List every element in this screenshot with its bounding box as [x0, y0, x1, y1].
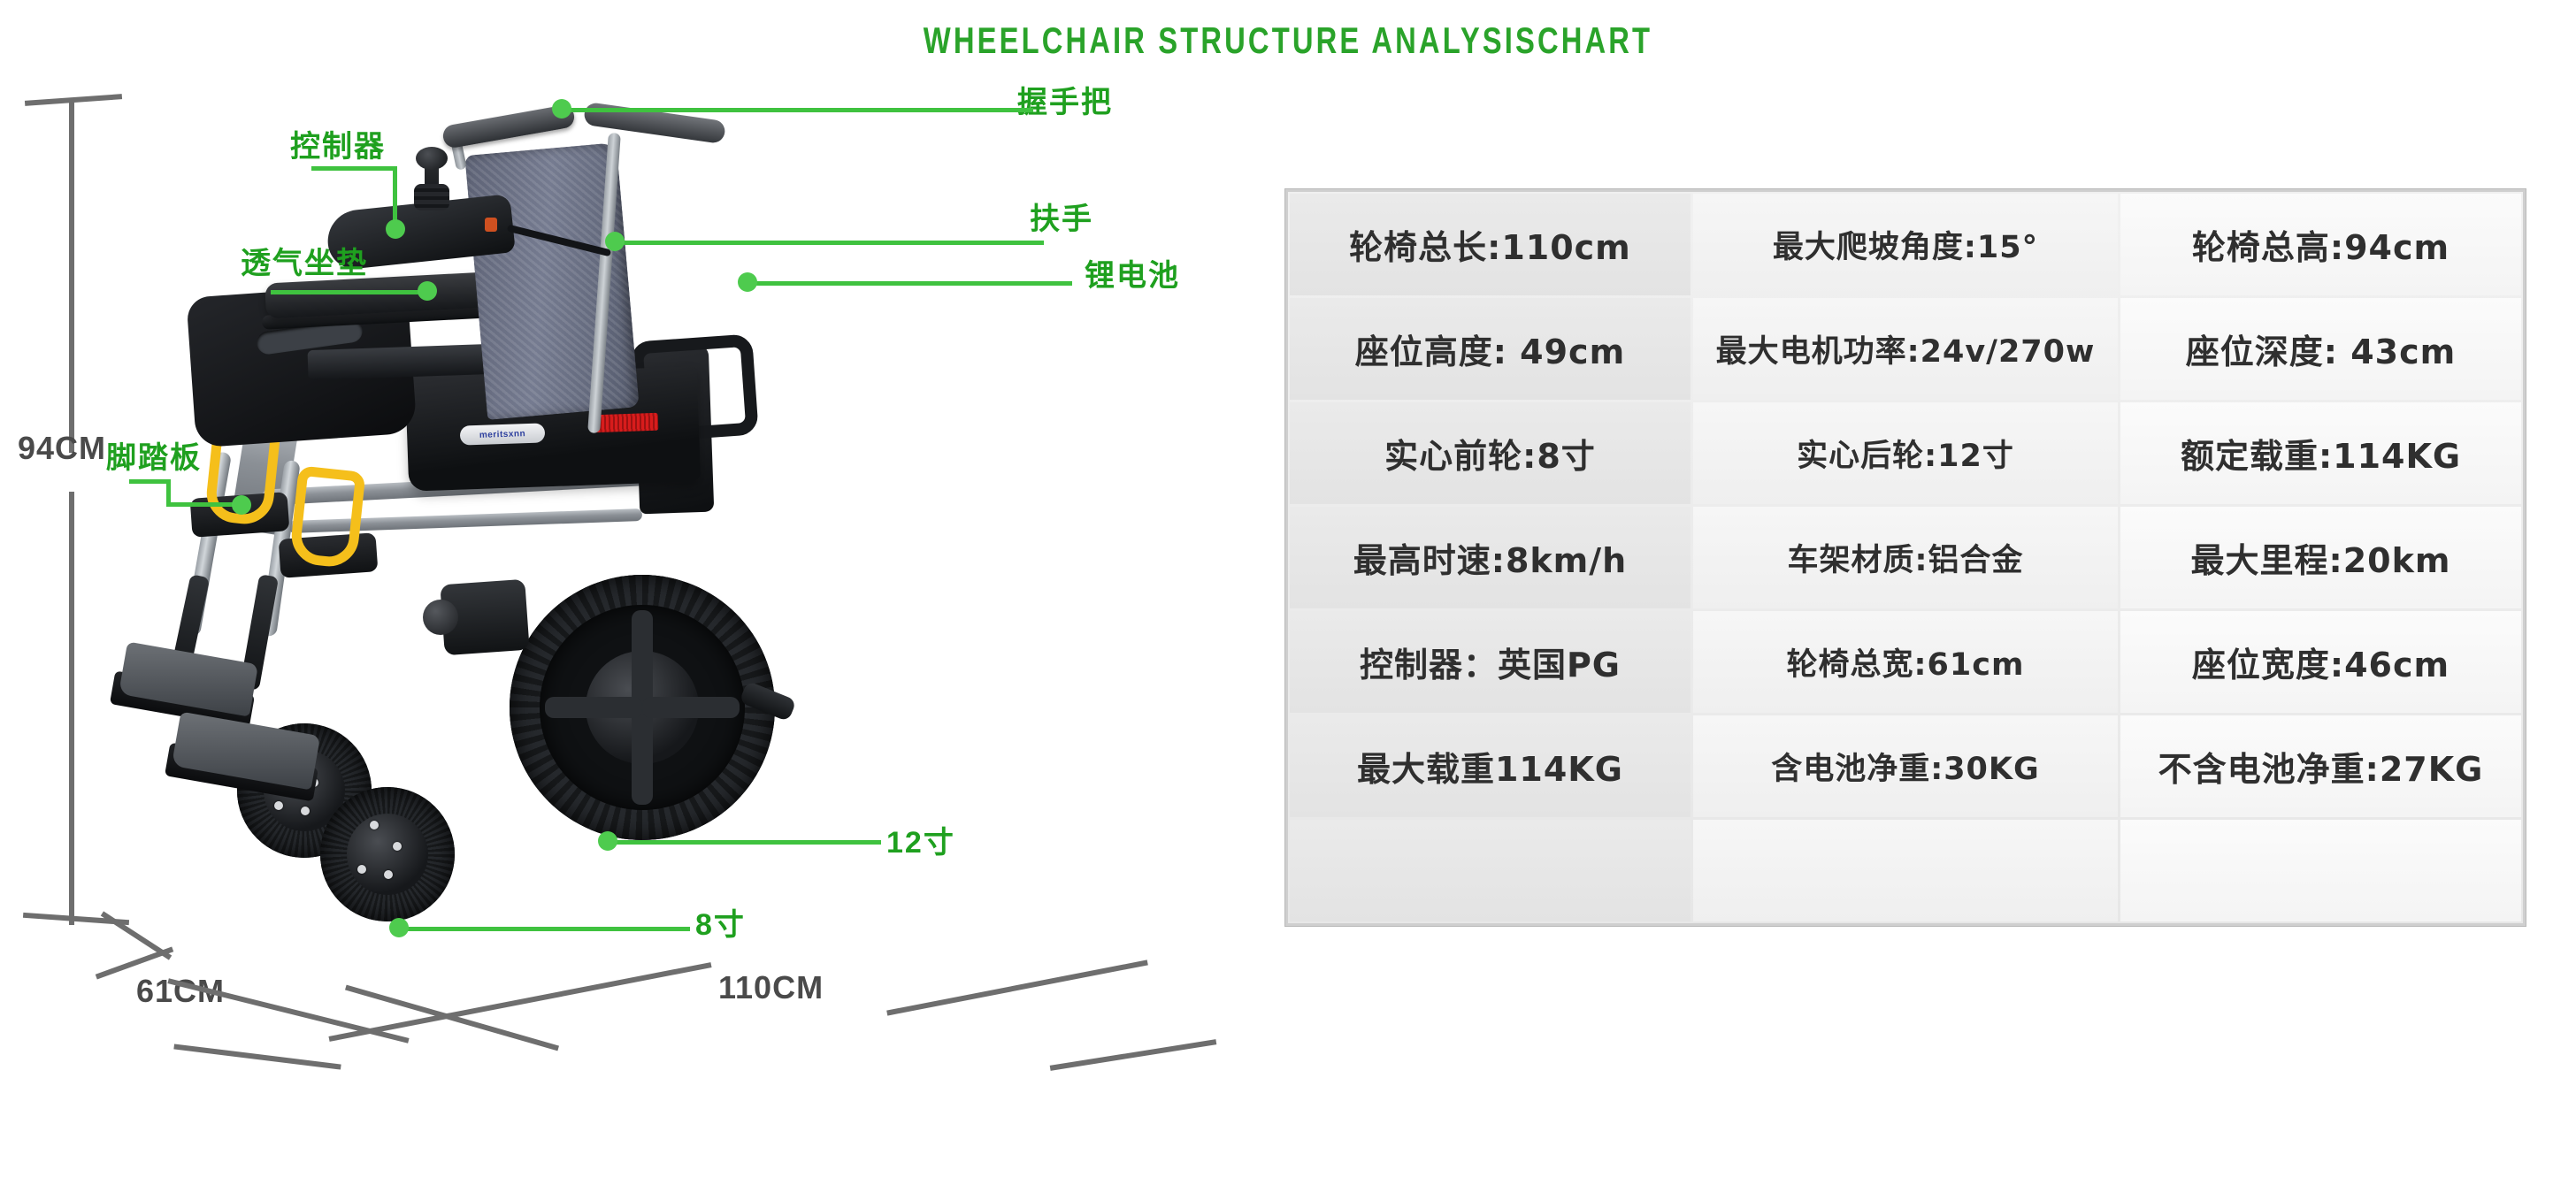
spec-cell-r6-c2: [2120, 820, 2521, 921]
joystick-knob: [416, 147, 448, 170]
spec-cell-r1-c2: 座位深度: 43cm: [2120, 298, 2521, 400]
callout-dot-footrest: [232, 495, 251, 515]
wheelchair-illustration: meritsxnn: [106, 80, 1150, 1052]
spec-cell-r5-c2: 不含电池净重:27KG: [2120, 715, 2521, 817]
spec-cell-r3-c1: 车架材质:铝合金: [1693, 507, 2118, 608]
callout-dot-breathable-cushion: [418, 281, 437, 301]
spec-cell-r1-c0: 座位高度: 49cm: [1290, 298, 1690, 400]
callout-dot-rear-wheel-size: [598, 831, 617, 851]
spec-cell-r3-c2: 最大里程:20km: [2120, 507, 2521, 608]
spec-cell-r5-c1: 含电池净重:30KG: [1693, 715, 2118, 817]
callout-label-footrest: 脚踏板: [106, 433, 202, 477]
spec-cell-r2-c1: 实心后轮:12寸: [1693, 402, 2118, 504]
spec-cell-r3-c0: 最高时速:8km/h: [1290, 507, 1690, 608]
callout-leader-rear-wheel-size: [605, 840, 881, 845]
controller-indicator: [485, 218, 497, 232]
spec-cell-r2-c2: 额定载重:114KG: [2120, 402, 2521, 504]
spec-cell-r6-c1: [1693, 820, 2118, 921]
callout-label-front-wheel-size: 8寸: [695, 900, 746, 944]
page-title: WHEELCHAIR STRUCTURE ANALYSISCHART: [283, 19, 2292, 62]
callout-leader-armrest: [610, 241, 1044, 245]
callout-leader-front-wheel-size: [396, 927, 690, 931]
callout-leader-footrest-h: [129, 479, 170, 484]
callout-label-armrest: 扶手: [1030, 195, 1093, 238]
dimension-height-label: 94CM: [18, 430, 106, 467]
spec-cell-r4-c2: 座位宽度:46cm: [2120, 611, 2521, 713]
front-caster-wheel-2: [320, 787, 455, 921]
callout-dot-armrest: [605, 232, 625, 251]
reflector: [593, 413, 659, 433]
joystick-boot: [414, 184, 449, 210]
callout-dot-handle-grip: [552, 99, 571, 119]
callout-leader-footrest-h2: [166, 502, 239, 507]
callout-label-breathable-cushion: 透气坐垫: [241, 239, 368, 282]
callout-leader-controller-h: [311, 166, 396, 171]
callout-label-rear-wheel-size: 12寸: [886, 818, 955, 861]
wheelchair-diagram: 94CM 61CM 110CM: [0, 80, 1274, 1185]
spec-cell-r6-c0: [1290, 820, 1690, 921]
specification-grid: 轮椅总长:110cm最大爬坡角度:15°轮椅总高:94cm座位高度: 49cm最…: [1290, 194, 2521, 921]
motor-shaft: [423, 600, 458, 635]
spec-cell-r5-c0: 最大载重114KG: [1290, 715, 1690, 817]
brand-badge: meritsxnn: [460, 423, 546, 445]
spec-cell-r2-c0: 实心前轮:8寸: [1290, 402, 1690, 504]
spec-cell-r0-c2: 轮椅总高:94cm: [2120, 194, 2521, 295]
rear-wheel: [510, 575, 775, 840]
callout-leader-breathable-cushion: [271, 290, 425, 294]
spec-cell-r1-c1: 最大电机功率:24v/270w: [1693, 298, 2118, 400]
height-dim-line-vertical-lower: [69, 492, 74, 925]
callout-label-controller: 控制器: [290, 122, 386, 165]
spec-cell-r0-c0: 轮椅总长:110cm: [1290, 194, 1690, 295]
spec-cell-r0-c1: 最大爬坡角度:15°: [1693, 194, 2118, 295]
callout-dot-front-wheel-size: [389, 918, 409, 937]
callout-leader-lithium-battery: [743, 281, 1072, 286]
callout-dot-controller: [386, 219, 405, 239]
specification-table: 轮椅总长:110cm最大爬坡角度:15°轮椅总高:94cm座位高度: 49cm最…: [1284, 188, 2526, 927]
spec-cell-r4-c1: 轮椅总宽:61cm: [1693, 611, 2118, 713]
callout-label-handle-grip: 握手把: [1017, 78, 1113, 121]
height-dim-line-vertical: [69, 99, 74, 453]
callout-label-lithium-battery: 锂电池: [1085, 251, 1180, 294]
callout-leader-handle-grip: [557, 108, 1033, 112]
callout-dot-lithium-battery: [738, 272, 757, 292]
spec-cell-r4-c0: 控制器：英国PG: [1290, 611, 1690, 713]
